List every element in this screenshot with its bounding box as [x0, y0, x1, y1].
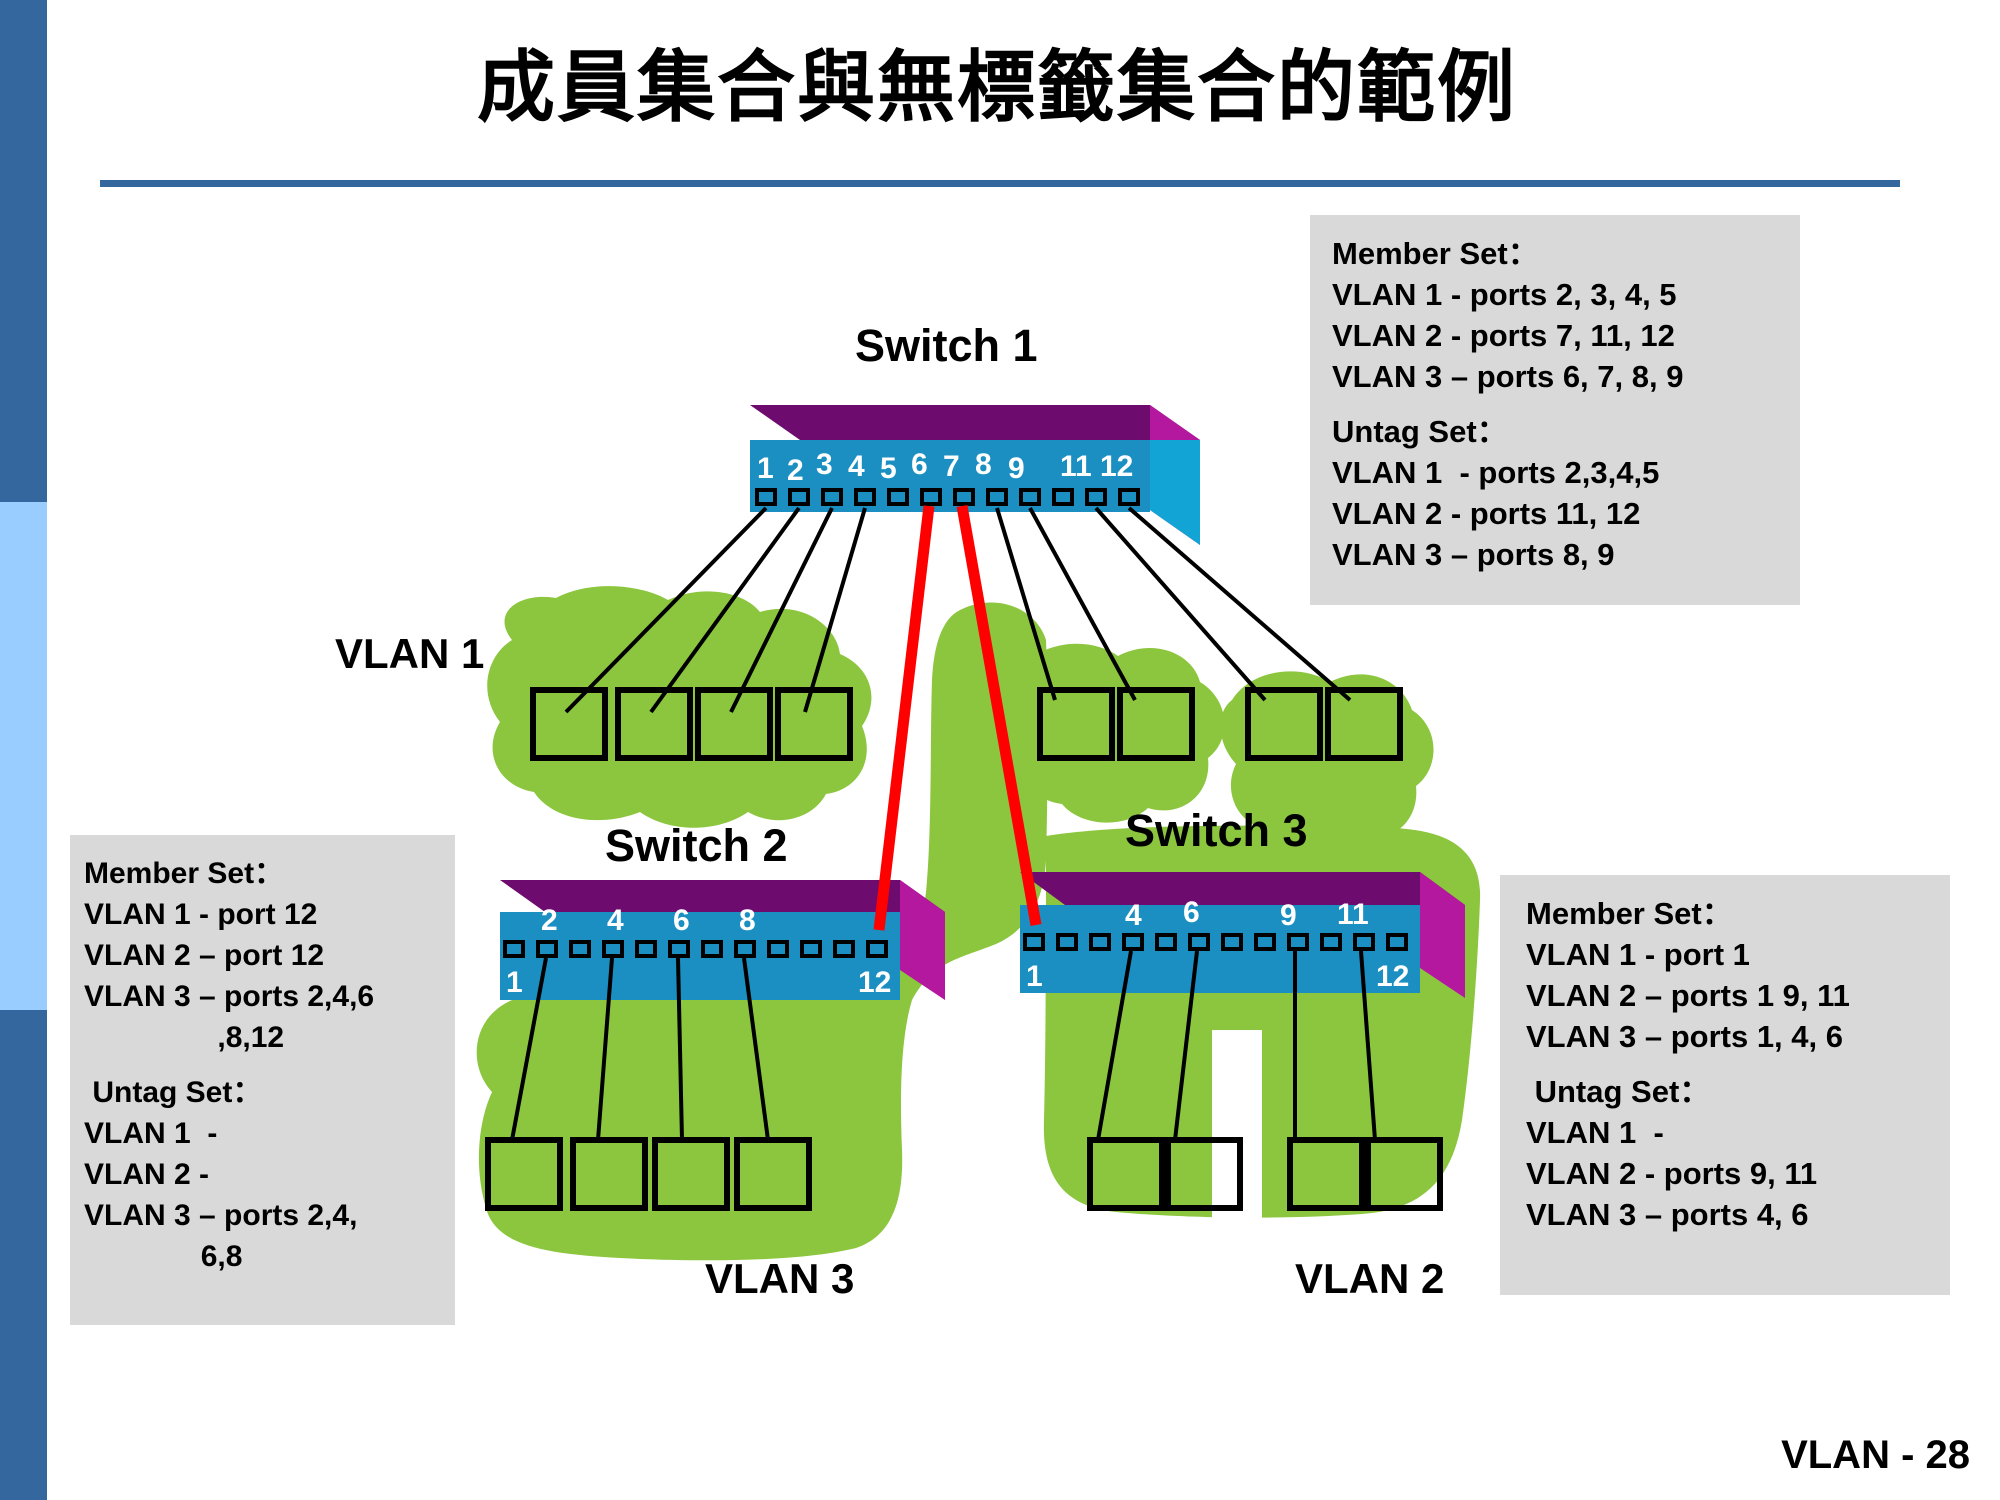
switch-1-info-box: Member Set： VLAN 1 - ports 2, 3, 4, 5 VL… [1310, 215, 1800, 605]
switch-1-label: Switch 1 [855, 320, 1038, 372]
switch-3-untag-line-1: VLAN 1 - [1526, 1112, 1950, 1153]
svg-text:6: 6 [1183, 896, 1200, 929]
switch-2-member-heading: Member Set： [84, 853, 455, 894]
svg-text:4: 4 [607, 904, 624, 937]
spacer [84, 1058, 455, 1072]
svg-text:6: 6 [673, 904, 690, 937]
slide-footer: VLAN - 28 [1781, 1433, 1970, 1478]
svg-text:11: 11 [1060, 450, 1092, 483]
switch-3-top-face [1020, 872, 1465, 905]
svg-text:7: 7 [943, 450, 960, 483]
svg-text:2: 2 [541, 904, 558, 937]
spacer [1526, 1057, 1950, 1071]
svg-text:3: 3 [816, 448, 833, 481]
svg-text:5: 5 [880, 452, 897, 485]
switch-3-label: Switch 3 [1125, 805, 1308, 857]
svg-text:2: 2 [787, 454, 804, 487]
switch-1-untag-line-2: VLAN 2 - ports 11, 12 [1332, 493, 1800, 534]
switch-2-member-line-2: VLAN 2 – port 12 [84, 935, 455, 976]
switch-2-info-box: Member Set： VLAN 1 - port 12 VLAN 2 – po… [70, 835, 455, 1325]
switch-3-untag-line-2: VLAN 2 - ports 9, 11 [1526, 1153, 1950, 1194]
svg-text:4: 4 [1125, 899, 1142, 932]
vlan-3-label: VLAN 3 [705, 1255, 854, 1303]
switch-1-member-line-2: VLAN 2 - ports 7, 11, 12 [1332, 315, 1800, 356]
switch-1-front-bevel [1150, 440, 1200, 545]
svg-text:12: 12 [858, 966, 891, 999]
svg-text:1: 1 [506, 966, 523, 999]
spacer [1332, 397, 1800, 411]
svg-text:8: 8 [739, 904, 756, 937]
switch-3-member-line-3: VLAN 3 – ports 1, 4, 6 [1526, 1016, 1950, 1057]
switch-3-untag-line-3: VLAN 3 – ports 4, 6 [1526, 1194, 1950, 1235]
svg-text:1: 1 [1026, 960, 1043, 993]
trunk-link-sw1p6-sw2p12 [879, 506, 929, 930]
switch-2-untag-line-4: 6,8 [84, 1236, 455, 1277]
switch-3-untag-heading: Untag Set： [1526, 1071, 1950, 1112]
switch-3[interactable]: 4 6 9 11 1 12 [1020, 872, 1465, 998]
switch-2-untag-heading: Untag Set： [84, 1072, 455, 1113]
switch-2-untag-line-2: VLAN 2 - [84, 1154, 455, 1195]
vlan1-cloud [487, 586, 871, 828]
switch-2-member-line-1: VLAN 1 - port 12 [84, 894, 455, 935]
switch-1-untag-heading: Untag Set： [1332, 411, 1800, 452]
svg-text:6: 6 [911, 448, 928, 481]
switch-3-member-line-2: VLAN 2 – ports 1 9, 11 [1526, 975, 1950, 1016]
switch-1-untag-line-3: VLAN 3 – ports 8, 9 [1332, 534, 1800, 575]
svg-text:1: 1 [757, 452, 774, 485]
switch-2-member-line-4: ,8,12 [84, 1017, 455, 1058]
svg-text:9: 9 [1008, 452, 1025, 485]
switch-2-untag-line-1: VLAN 1 - [84, 1113, 455, 1154]
svg-text:11: 11 [1337, 898, 1369, 931]
svg-text:12: 12 [1376, 960, 1409, 993]
vlan-1-label: VLAN 1 [335, 630, 484, 678]
svg-text:9: 9 [1280, 899, 1297, 932]
switch-1-top-face [750, 405, 1200, 440]
svg-text:4: 4 [848, 450, 865, 483]
svg-text:12: 12 [1100, 450, 1133, 483]
switch-2-member-line-3: VLAN 3 – ports 2,4,6 [84, 976, 455, 1017]
switch-1[interactable]: 1 2 3 4 5 6 7 8 9 11 12 [750, 405, 1200, 545]
switch-1-member-heading: Member Set： [1332, 233, 1800, 274]
switch-3-member-heading: Member Set： [1526, 893, 1950, 934]
vlan-2-label: VLAN 2 [1295, 1255, 1444, 1303]
switch-1-member-line-1: VLAN 1 - ports 2, 3, 4, 5 [1332, 274, 1800, 315]
switch-1-untag-line-1: VLAN 1 - ports 2,3,4,5 [1332, 452, 1800, 493]
switch-2-label: Switch 2 [605, 820, 788, 872]
switch-3-member-line-1: VLAN 1 - port 1 [1526, 934, 1950, 975]
switch-2-untag-line-3: VLAN 3 – ports 2,4, [84, 1195, 455, 1236]
svg-text:8: 8 [975, 448, 992, 481]
switch-3-info-box: Member Set： VLAN 1 - port 1 VLAN 2 – por… [1500, 875, 1950, 1295]
switch-1-member-line-3: VLAN 3 – ports 6, 7, 8, 9 [1332, 356, 1800, 397]
